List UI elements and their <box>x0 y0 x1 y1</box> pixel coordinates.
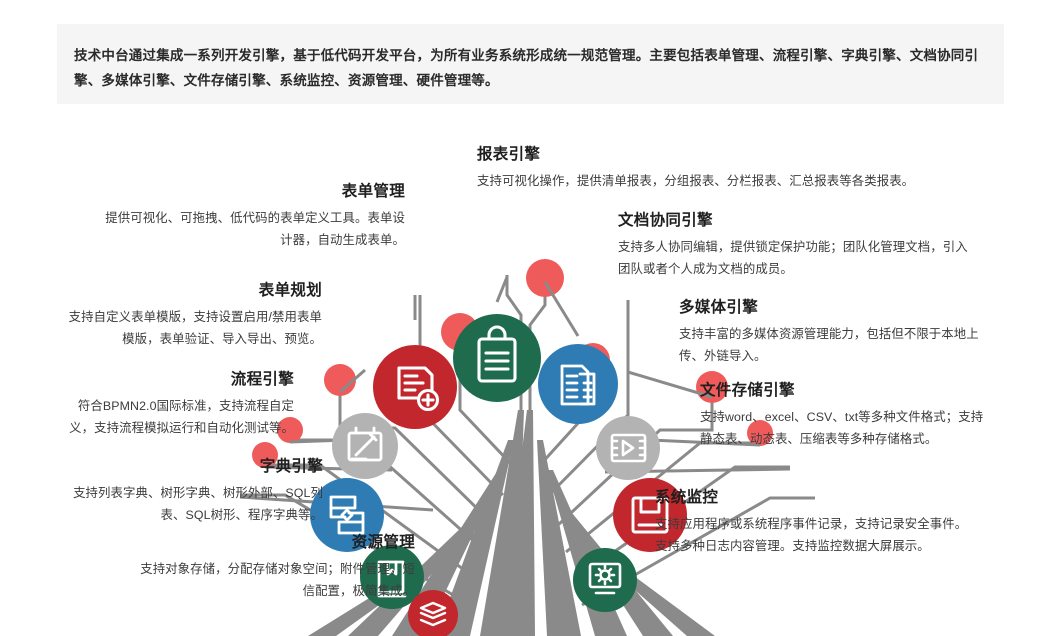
callout-process-engine: 流程引擎 符合BPMN2.0国际标准，支持流程自定义，支持流程模拟运行和自动化测… <box>62 370 294 439</box>
icon-node-report-engine[interactable] <box>453 314 541 402</box>
icon-node-multimedia-engine[interactable] <box>596 416 660 480</box>
icon-node-document-collaboration-engine[interactable] <box>538 344 618 424</box>
callout-form-management: 表单管理 提供可视化、可拖拽、低代码的表单定义工具。表单设计器，自动生成表单。 <box>105 182 405 251</box>
intro-banner-text: 技术中台通过集成一系列开发引擎，基于低代码开发平台，为所有业务系统形成统一规范管… <box>74 43 979 93</box>
callout-title: 系统监控 <box>655 488 971 508</box>
accent-dot <box>526 259 564 297</box>
callout-dictionary-engine: 字典引擎 支持列表字典、树形字典、树形外部、SQL列表、SQL树形、程序字典等。 <box>62 457 323 526</box>
callout-multimedia-engine: 多媒体引擎 支持丰富的多媒体资源管理能力，包括但不限于本地上传、外链导入。 <box>679 298 991 367</box>
icon-node-form-planning[interactable] <box>332 413 398 479</box>
callout-document-collaboration-engine: 文档协同引擎 支持多人协同编辑，提供锁定保护功能；团队化管理文档，引入团队或者个… <box>618 211 980 280</box>
callout-desc: 支持丰富的多媒体资源管理能力，包括但不限于本地上传、外链导入。 <box>679 324 991 367</box>
callout-desc: 支持自定义表单模版，支持设置启用/禁用表单模版，表单验证、导入导出、预览。 <box>62 307 322 350</box>
callout-report-engine: 报表引擎 支持可视化操作，提供清单报表，分组报表、分栏报表、汇总报表等各类报表。 <box>477 145 997 193</box>
icon-node-system-monitoring[interactable] <box>573 548 637 612</box>
callout-resource-management: 资源管理 支持对象存储，分配存储对象空间；附件管理，短信配置，极简集成。 <box>135 533 415 602</box>
callout-system-monitoring: 系统监控 支持应用程序或系统程序事件记录，支持记录安全事件。支持多种日志内容管理… <box>655 488 971 557</box>
callout-desc: 支持word、excel、CSV、txt等多种文件格式；支持静态表、动态表、压缩… <box>700 407 990 450</box>
infographic-canvas: 技术中台通过集成一系列开发引擎，基于低代码开发平台，为所有业务系统形成统一规范管… <box>0 0 1051 636</box>
callout-file-storage-engine: 文件存储引擎 支持word、excel、CSV、txt等多种文件格式；支持静态表… <box>700 381 990 450</box>
callout-desc: 提供可视化、可拖拽、低代码的表单定义工具。表单设计器，自动生成表单。 <box>105 208 405 251</box>
callout-title: 文件存储引擎 <box>700 381 990 401</box>
callout-title: 多媒体引擎 <box>679 298 991 318</box>
callout-title: 资源管理 <box>135 533 415 553</box>
callout-title: 报表引擎 <box>477 145 997 165</box>
callout-title: 表单规划 <box>62 281 322 301</box>
callout-form-planning: 表单规划 支持自定义表单模版，支持设置启用/禁用表单模版，表单验证、导入导出、预… <box>62 281 322 350</box>
callout-title: 流程引擎 <box>62 370 294 390</box>
icon-node-form-management[interactable] <box>373 345 457 429</box>
callout-desc: 支持应用程序或系统程序事件记录，支持记录安全事件。支持多种日志内容管理。支持监控… <box>655 514 971 557</box>
intro-banner: 技术中台通过集成一系列开发引擎，基于低代码开发平台，为所有业务系统形成统一规范管… <box>57 24 1004 104</box>
callout-title: 文档协同引擎 <box>618 211 980 231</box>
callout-desc: 支持多人协同编辑，提供锁定保护功能；团队化管理文档，引入团队或者个人成为文档的成… <box>618 237 980 280</box>
callout-title: 表单管理 <box>105 182 405 202</box>
callout-desc: 符合BPMN2.0国际标准，支持流程自定义，支持流程模拟运行和自动化测试等。 <box>62 396 294 439</box>
callout-desc: 支持对象存储，分配存储对象空间；附件管理，短信配置，极简集成。 <box>135 559 415 602</box>
callout-title: 字典引擎 <box>62 457 323 477</box>
callout-desc: 支持可视化操作，提供清单报表，分组报表、分栏报表、汇总报表等各类报表。 <box>477 171 997 193</box>
callout-desc: 支持列表字典、树形字典、树形外部、SQL列表、SQL树形、程序字典等。 <box>62 483 323 526</box>
